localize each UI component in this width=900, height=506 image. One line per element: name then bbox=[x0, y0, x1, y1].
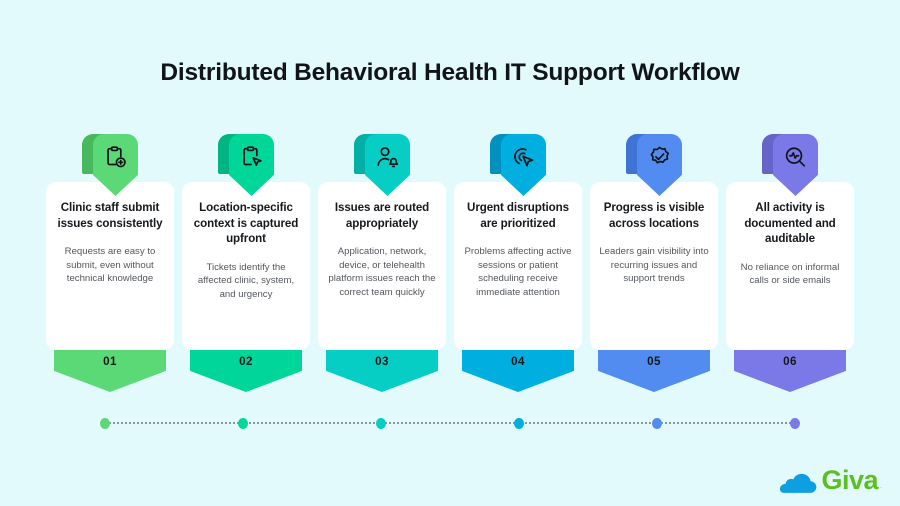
step-icon-shield-01 bbox=[82, 134, 138, 196]
step-number-pennant-03: 03 bbox=[326, 348, 438, 392]
step-card-02: Location-specific context is captured up… bbox=[182, 182, 310, 350]
search-pulse-icon bbox=[773, 134, 818, 180]
step-number-05: 05 bbox=[647, 355, 661, 392]
step-heading-04: Urgent disruptions are prioritized bbox=[463, 200, 573, 231]
step-card-06: All activity is documented and auditable… bbox=[726, 182, 854, 350]
click-target-icon bbox=[501, 134, 546, 180]
step-body-03: Application, network, device, or telehea… bbox=[327, 245, 437, 299]
step-icon-shield-04 bbox=[490, 134, 546, 196]
timeline-dot-03 bbox=[376, 418, 386, 429]
step-number-03: 03 bbox=[375, 355, 389, 392]
step-number-06: 06 bbox=[783, 355, 797, 392]
timeline-dot-02 bbox=[238, 418, 248, 429]
workflow-step-02: Location-specific context is captured up… bbox=[182, 134, 310, 392]
workflow-step-05: Progress is visible across locations Lea… bbox=[590, 134, 718, 392]
workflow-steps-row: Clinic staff submit issues consistently … bbox=[46, 134, 854, 392]
step-card-01: Clinic staff submit issues consistently … bbox=[46, 182, 174, 350]
timeline-dot-05 bbox=[652, 418, 662, 429]
timeline bbox=[100, 417, 800, 429]
step-icon-shield-06 bbox=[762, 134, 818, 196]
workflow-step-01: Clinic staff submit issues consistently … bbox=[46, 134, 174, 392]
brand-logo: Giva . bbox=[779, 467, 883, 494]
step-body-01: Requests are easy to submit, even withou… bbox=[55, 245, 165, 286]
step-heading-01: Clinic staff submit issues consistently bbox=[55, 200, 165, 231]
timeline-dot-04 bbox=[514, 418, 524, 429]
step-number-01: 01 bbox=[103, 355, 117, 392]
step-number-pennant-06: 06 bbox=[734, 348, 846, 392]
workflow-step-06: All activity is documented and auditable… bbox=[726, 134, 854, 392]
brand-name: Giva bbox=[822, 467, 879, 494]
workflow-step-03: Issues are routed appropriately Applicat… bbox=[318, 134, 446, 392]
step-number-pennant-04: 04 bbox=[462, 348, 574, 392]
workflow-step-04: Urgent disruptions are prioritized Probl… bbox=[454, 134, 582, 392]
step-card-05: Progress is visible across locations Lea… bbox=[590, 182, 718, 350]
step-heading-02: Location-specific context is captured up… bbox=[191, 200, 301, 247]
cloud-icon bbox=[779, 468, 817, 494]
clipboard-cursor-icon bbox=[229, 134, 274, 180]
user-alert-icon bbox=[365, 134, 410, 180]
step-body-05: Leaders gain visibility into recurring i… bbox=[599, 245, 709, 286]
infographic-root: Distributed Behavioral Health IT Support… bbox=[0, 0, 900, 506]
brand-trademark: . bbox=[880, 483, 882, 490]
step-card-03: Issues are routed appropriately Applicat… bbox=[318, 182, 446, 350]
step-number-02: 02 bbox=[239, 355, 253, 392]
step-heading-03: Issues are routed appropriately bbox=[327, 200, 437, 231]
clipboard-plus-icon bbox=[93, 134, 138, 180]
timeline-dots bbox=[100, 417, 800, 429]
verified-badge-icon bbox=[637, 134, 682, 180]
step-heading-06: All activity is documented and auditable bbox=[735, 200, 845, 247]
page-title: Distributed Behavioral Health IT Support… bbox=[0, 58, 900, 87]
step-number-pennant-02: 02 bbox=[190, 348, 302, 392]
step-icon-shield-02 bbox=[218, 134, 274, 196]
step-body-02: Tickets identify the affected clinic, sy… bbox=[191, 261, 301, 302]
step-body-06: No reliance on informal calls or side em… bbox=[735, 261, 845, 288]
step-body-04: Problems affecting active sessions or pa… bbox=[463, 245, 573, 299]
timeline-dot-06 bbox=[790, 418, 800, 429]
step-number-04: 04 bbox=[511, 355, 525, 392]
step-heading-05: Progress is visible across locations bbox=[599, 200, 709, 231]
timeline-dot-01 bbox=[100, 418, 110, 429]
step-icon-shield-03 bbox=[354, 134, 410, 196]
step-card-04: Urgent disruptions are prioritized Probl… bbox=[454, 182, 582, 350]
step-number-pennant-05: 05 bbox=[598, 348, 710, 392]
step-number-pennant-01: 01 bbox=[54, 348, 166, 392]
step-icon-shield-05 bbox=[626, 134, 682, 196]
